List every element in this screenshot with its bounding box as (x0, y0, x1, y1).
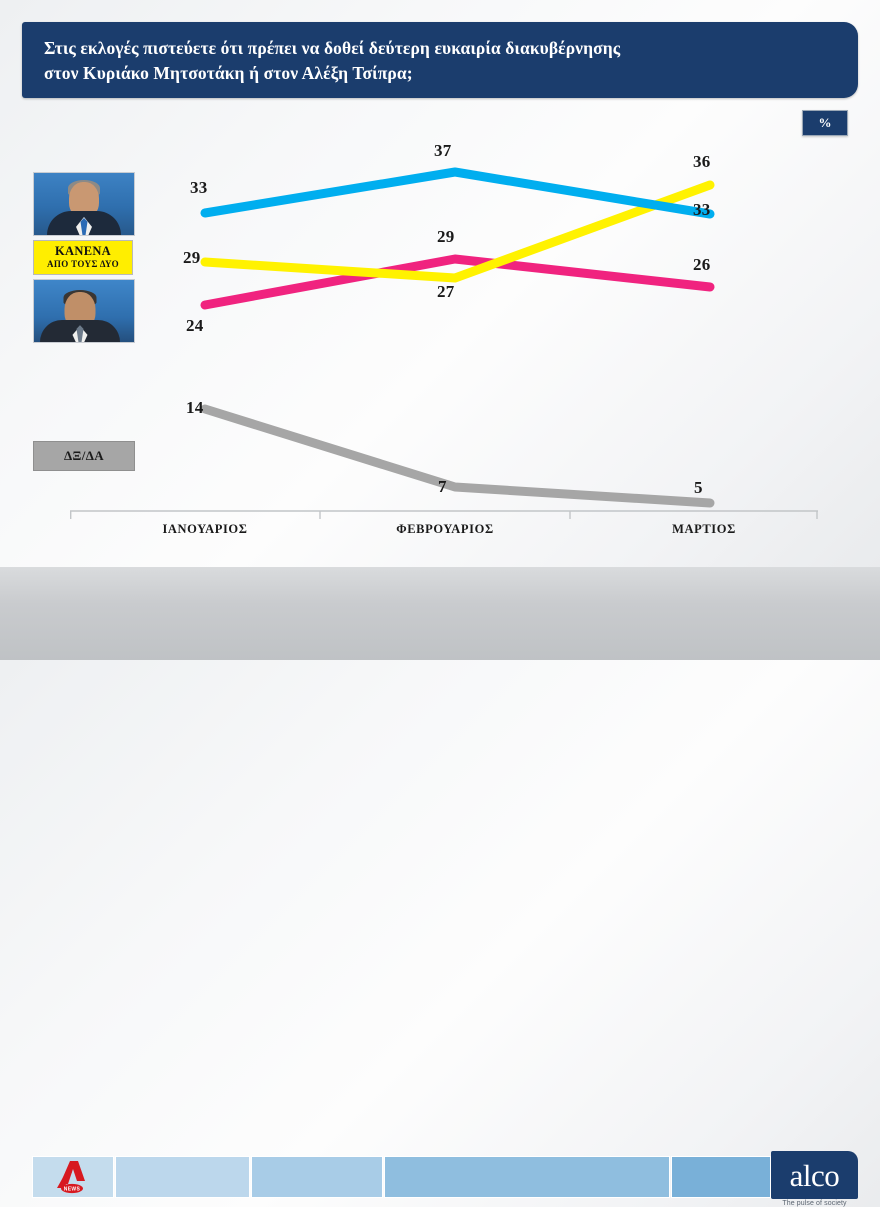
series-line-mitsotakis (205, 172, 710, 214)
alpha-news-logo-icon: NEWS (52, 1160, 92, 1194)
footer-bar: NEWS alco The pulse of society (0, 567, 880, 660)
alco-tagline: The pulse of society (771, 1200, 858, 1207)
footer-segment-1 (115, 1156, 250, 1198)
x-axis-label-january: ΙΑΝΟΥΑΡΙΟΣ (125, 522, 285, 537)
data-label-dkda-jan: 14 (186, 398, 203, 418)
x-axis-label-february: ΦΕΒΡΟΥΑΡΙΟΣ (365, 522, 525, 537)
alco-logo: alco (771, 1151, 858, 1199)
data-label-none-feb: 27 (437, 282, 454, 302)
data-label-mitsotakis-jan: 33 (190, 178, 207, 198)
chart-svg (0, 0, 880, 660)
data-label-tsipras-jan: 24 (186, 316, 203, 336)
line-chart-plot: 33 37 33 29 27 36 24 29 26 14 7 5 ΙΑΝΟΥΑ… (0, 0, 880, 660)
data-label-mitsotakis-feb: 37 (434, 141, 451, 161)
data-label-dkda-mar: 5 (694, 478, 703, 498)
slide-root: Στις εκλογές πιστεύετε ότι πρέπει να δοθ… (0, 0, 880, 660)
data-label-tsipras-feb: 29 (437, 227, 454, 247)
svg-text:NEWS: NEWS (64, 1186, 81, 1192)
footer-segment-4 (671, 1156, 771, 1198)
data-label-mitsotakis-mar: 33 (693, 200, 710, 220)
data-label-dkda-feb: 7 (438, 477, 447, 497)
data-label-tsipras-mar: 26 (693, 255, 710, 275)
alco-logo-text: alco (790, 1160, 840, 1191)
footer-segment-2 (251, 1156, 383, 1198)
x-axis-label-march: ΜΑΡΤΙΟΣ (624, 522, 784, 537)
footer-segment-3 (384, 1156, 670, 1198)
data-label-none-mar: 36 (693, 152, 710, 172)
series-line-dk-da (205, 409, 710, 503)
data-label-none-jan: 29 (183, 248, 200, 268)
